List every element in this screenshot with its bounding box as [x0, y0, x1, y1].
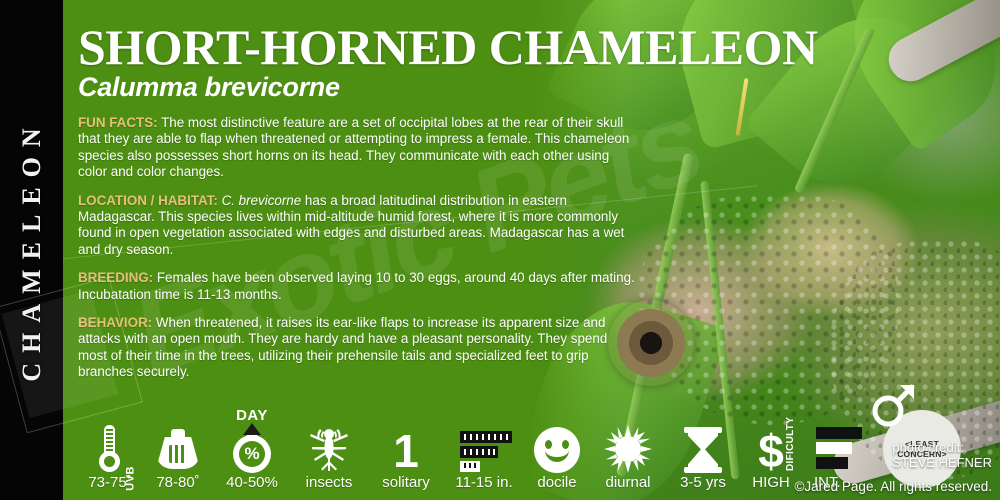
humidity-droplet-icon: DAY % [229, 425, 275, 473]
section-scientific-location: C. brevicorne [218, 193, 301, 208]
heat-lamp-icon [152, 429, 204, 473]
section-label-location-habitat: LOCATION / HABITAT: [78, 193, 218, 208]
section-label-fun-facts: FUN FACTS: [78, 115, 158, 130]
uvb-badge-label: UVB [125, 466, 137, 491]
side-spine: CHAMELEON [0, 0, 63, 500]
section-breeding: BREEDING: Females have been observed lay… [78, 270, 638, 303]
care-icon-activity: diurnal [590, 423, 666, 492]
difficulty-chart-icon: DIFICULTY [802, 425, 864, 473]
section-body-fun-facts: The most distinctive feature are a set o… [78, 115, 629, 179]
care-icon-lifespan: 3-5 yrs [666, 423, 740, 492]
care-icon-caption-diet: insects [306, 474, 353, 492]
percent-symbol: % [239, 441, 265, 467]
photo-credit-label: photo credit: [892, 440, 992, 455]
care-icon-temperament: docile [524, 423, 590, 492]
copyright-notice: ©Jared Page. All rights reserved. [794, 479, 992, 494]
care-icon-temperature: UVB 73-75˚ [78, 423, 142, 492]
care-icon-social: 1 solitary [368, 423, 444, 492]
section-body-behavior: When threatened, it raises its ear-like … [78, 315, 607, 379]
scientific-name: Calumma brevicorne [78, 72, 778, 103]
hourglass-icon [684, 427, 722, 473]
spine-label: CHAMELEON [17, 118, 47, 381]
section-location-habitat: LOCATION / HABITAT: C. brevicorne has a … [78, 193, 638, 259]
care-icon-size: 11-15 in. [444, 423, 524, 492]
care-icon-basking: 78-80˚ [142, 423, 214, 492]
care-icon-diet: insects [290, 423, 368, 492]
dollar-icon: $ [758, 429, 784, 473]
cricket-icon [307, 425, 351, 473]
care-icon-caption-activity: diurnal [605, 474, 650, 492]
care-icon-humidity: DAY % 40-50% [214, 423, 290, 492]
care-icon-caption-size: 11-15 in. [455, 474, 512, 492]
photographer-name: STEVE HEFNER [892, 455, 992, 470]
care-icon-caption-temperament: docile [537, 474, 576, 492]
section-behavior: BEHAVIOR: When threatened, it raises its… [78, 315, 638, 381]
section-fun-facts: FUN FACTS: The most distinctive feature … [78, 115, 638, 181]
care-icon-caption-humidity: 40-50% [226, 474, 278, 492]
thermometer-uvb-icon: UVB [95, 425, 125, 473]
ruler-icon [456, 425, 512, 473]
page-title: SHORT-HORNED CHAMELEON [78, 20, 778, 74]
photo-credit: photo credit: STEVE HEFNER [892, 440, 992, 470]
group-size-icon: 1 [393, 429, 419, 473]
difficulty-vertical-label: DIFICULTY [785, 417, 796, 471]
care-icon-caption-basking: 78-80˚ [156, 474, 199, 492]
male-symbol-icon [870, 380, 918, 428]
sun-icon [604, 425, 652, 473]
temperament-smiley-icon [534, 427, 580, 473]
species-info-card: Exotic Pets CHAMELEON SHORT-HORNED CHAME… [0, 0, 1000, 500]
care-icon-caption-lifespan: 3-5 yrs [680, 474, 726, 492]
section-body-breeding: Females have been observed laying 10 to … [78, 270, 635, 301]
day-label: DAY [236, 407, 268, 424]
